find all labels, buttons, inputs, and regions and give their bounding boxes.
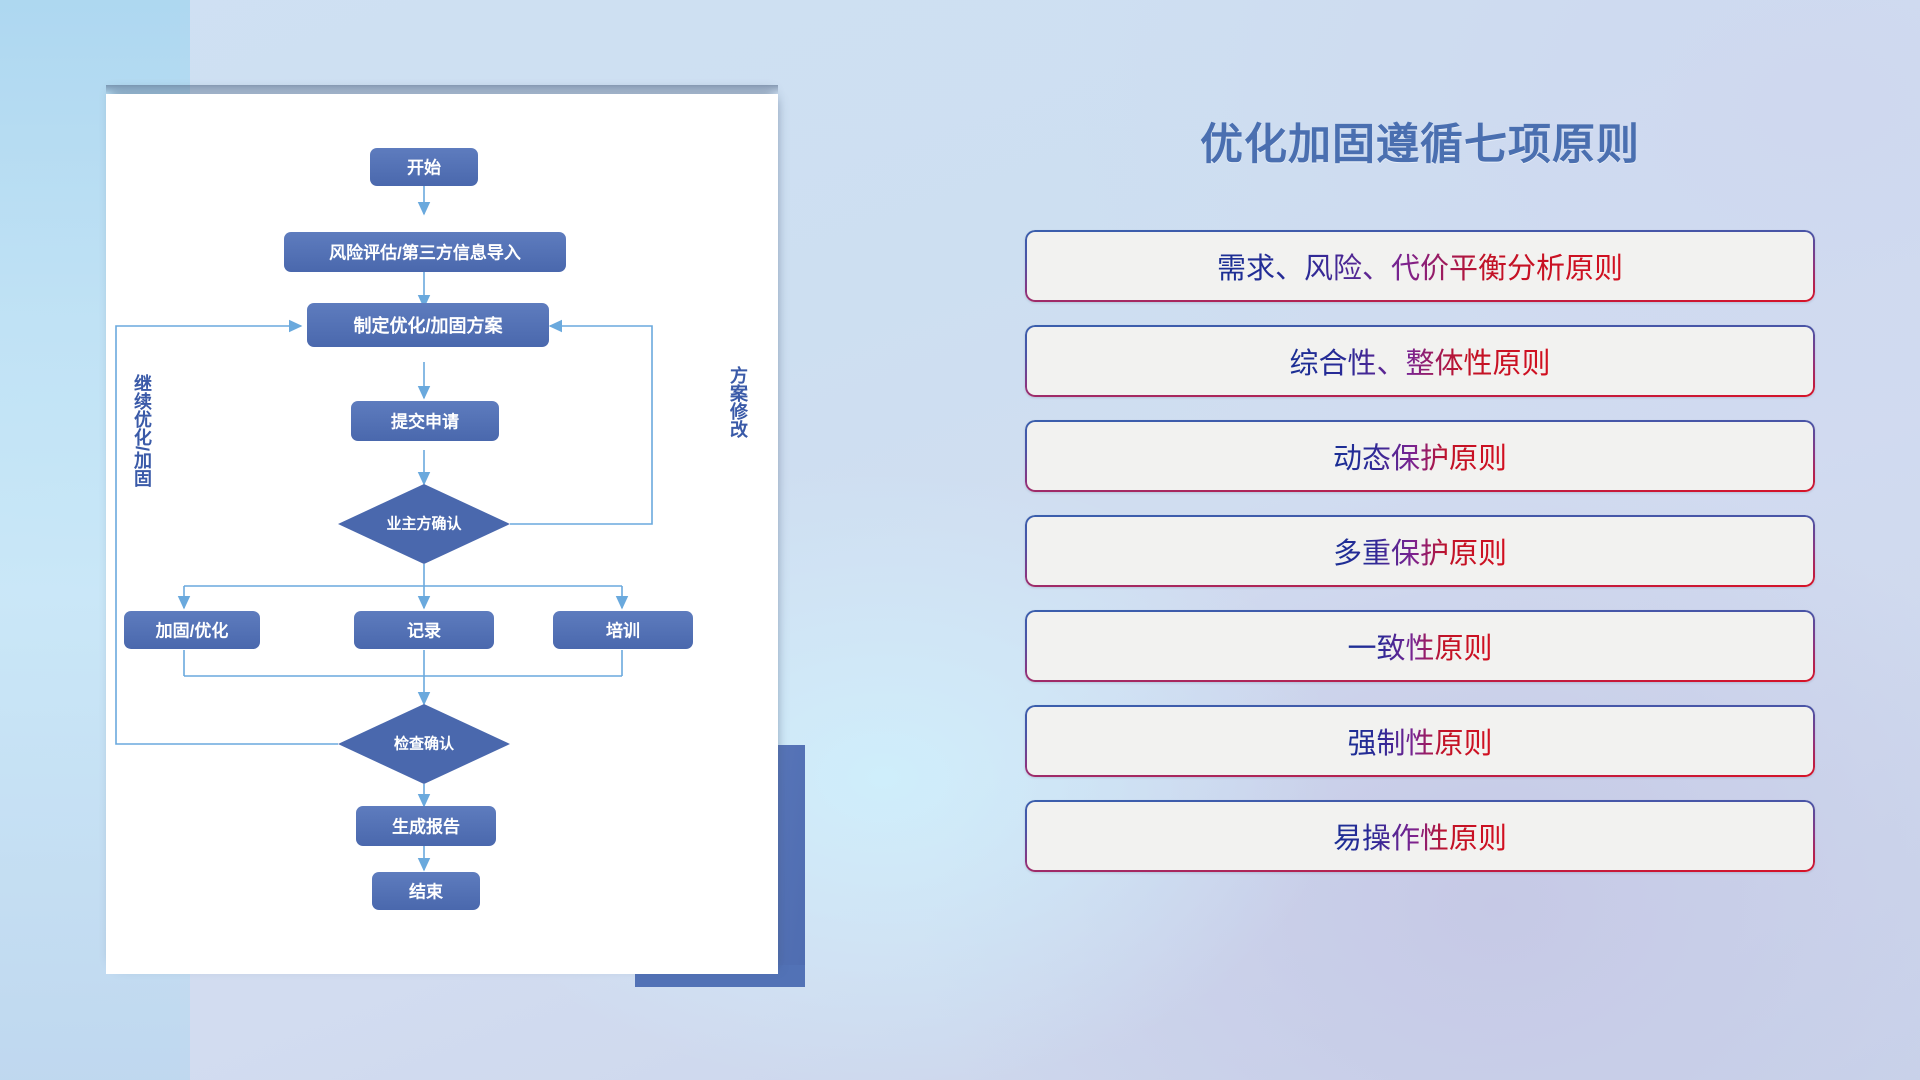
svg-text:加固/优化: 加固/优化 xyxy=(155,621,229,641)
principle-item-7[interactable]: 易操作性原则 xyxy=(1025,800,1815,872)
edge-label-left: 继续优化/加固 xyxy=(132,373,153,488)
flow-node-check-confirm[interactable]: 检查确认 xyxy=(338,704,510,784)
edge-label-right: 方案修改 xyxy=(728,365,749,439)
svg-text:提交申请: 提交申请 xyxy=(391,412,459,432)
principles-panel: 优化加固遵循七项原则 需求、风险、代价平衡分析原则 综合性、整体性原则 动态保护… xyxy=(1020,90,1820,1020)
principle-label: 需求、风险、代价平衡分析原则 xyxy=(1217,245,1623,287)
principle-label: 易操作性原则 xyxy=(1333,815,1507,857)
svg-text:开始: 开始 xyxy=(407,158,441,178)
principle-item-1[interactable]: 需求、风险、代价平衡分析原则 xyxy=(1025,230,1815,302)
svg-text:制定优化/加固方案: 制定优化/加固方案 xyxy=(353,315,503,336)
flow-node-record[interactable]: 记录 xyxy=(354,611,494,649)
svg-text:记录: 记录 xyxy=(407,622,441,641)
principle-item-3[interactable]: 动态保护原则 xyxy=(1025,420,1815,492)
principle-label: 综合性、整体性原则 xyxy=(1289,340,1550,382)
flow-node-reinforce[interactable]: 加固/优化 xyxy=(124,611,260,649)
flow-node-risk-assessment[interactable]: 风险评估/第三方信息导入 xyxy=(284,232,566,272)
principle-label: 强制性原则 xyxy=(1347,720,1492,762)
svg-text:检查确认: 检查确认 xyxy=(394,735,455,753)
flow-node-plan[interactable]: 制定优化/加固方案 xyxy=(307,303,549,347)
principle-item-5[interactable]: 一致性原则 xyxy=(1025,610,1815,682)
flow-node-submit-application[interactable]: 提交申请 xyxy=(351,401,499,441)
flowchart-diagram: 开始 风险评估/第三方信息导入 制定优化/加固方案 提交申请 业主方确认 加固/… xyxy=(106,94,778,974)
flow-node-owner-confirm[interactable]: 业主方确认 xyxy=(338,484,510,564)
svg-text:风险评估/第三方信息导入: 风险评估/第三方信息导入 xyxy=(329,243,521,263)
flow-node-end[interactable]: 结束 xyxy=(372,872,480,910)
svg-text:业主方确认: 业主方确认 xyxy=(386,515,462,533)
principle-item-4[interactable]: 多重保护原则 xyxy=(1025,515,1815,587)
flowchart-card: 开始 风险评估/第三方信息导入 制定优化/加固方案 提交申请 业主方确认 加固/… xyxy=(106,94,778,974)
flow-node-generate-report[interactable]: 生成报告 xyxy=(356,806,496,846)
svg-text:培训: 培训 xyxy=(606,621,640,641)
flow-node-training[interactable]: 培训 xyxy=(553,611,693,649)
principles-title: 优化加固遵循七项原则 xyxy=(1020,110,1820,172)
principle-item-6[interactable]: 强制性原则 xyxy=(1025,705,1815,777)
principle-label: 动态保护原则 xyxy=(1333,435,1507,477)
principle-label: 一致性原则 xyxy=(1347,625,1492,667)
svg-text:结束: 结束 xyxy=(409,882,443,902)
principle-label: 多重保护原则 xyxy=(1333,530,1507,572)
flow-node-start[interactable]: 开始 xyxy=(370,148,478,186)
svg-text:生成报告: 生成报告 xyxy=(392,817,460,837)
principle-item-2[interactable]: 综合性、整体性原则 xyxy=(1025,325,1815,397)
principles-list: 需求、风险、代价平衡分析原则 综合性、整体性原则 动态保护原则 多重保护原则 一… xyxy=(1020,230,1820,872)
